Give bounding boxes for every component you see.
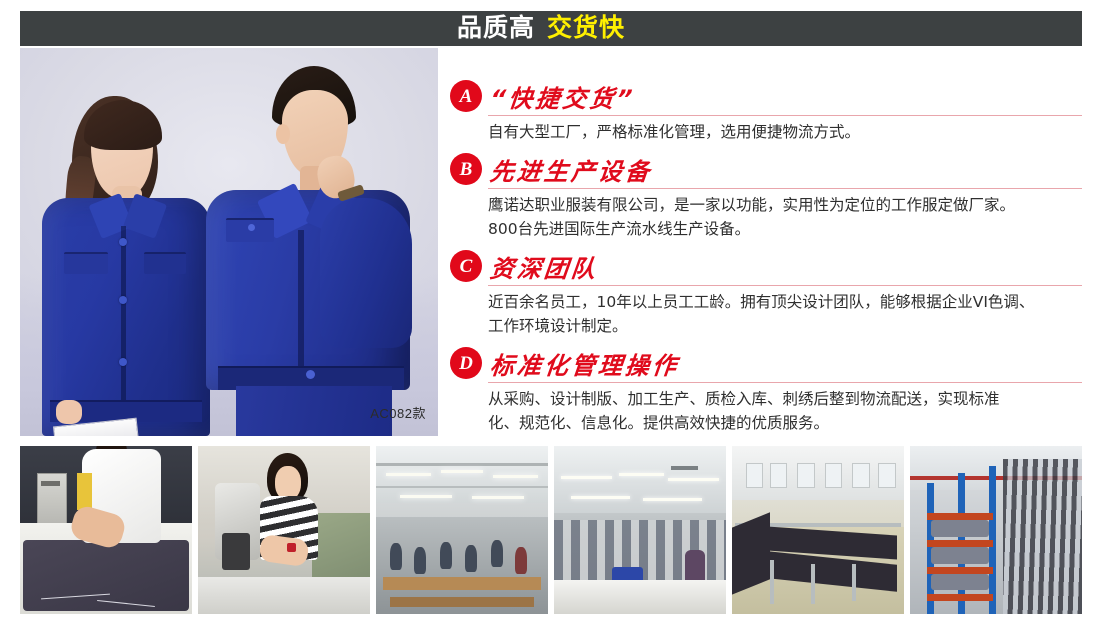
feature-body-line: 从采购、设计制版、加工生产、质检入库、刺绣后整到物流配送，实现标准	[488, 387, 1082, 411]
female-pocket-left	[64, 252, 108, 274]
feature-body: 从采购、设计制版、加工生产、质检入库、刺绣后整到物流配送，实现标准 化、规范化、…	[488, 387, 1082, 435]
feature-body: 鹰诺达职业服装有限公司，是一家以功能，实用性为定位的工作服定做厂家。 800台先…	[488, 193, 1082, 241]
feature-body-line: 800台先进国际生产流水线生产设备。	[488, 217, 1082, 241]
feature-divider	[488, 115, 1082, 116]
male-pocket-button	[248, 224, 255, 231]
feature-title: 标准化管理操作	[489, 354, 681, 379]
gallery-thumb-workshop: 生产车间全景	[376, 446, 548, 614]
factory-photo-strip: 裁剪打版车间 缝纫车工操作 生产车间全景	[20, 446, 1082, 614]
title-quality: 品质高	[457, 16, 535, 41]
feature-body: 自有大型工厂，严格标准化管理，选用便捷物流方式。	[488, 120, 1082, 144]
feature-divider	[488, 285, 1082, 286]
gallery-thumb-conveyor: 流水线输送带	[732, 446, 904, 614]
female-pocket-right	[144, 252, 186, 274]
feature-body-line: 自有大型工厂，严格标准化管理，选用便捷物流方式。	[488, 120, 1082, 144]
feature-body-line: 鹰诺达职业服装有限公司，是一家以功能，实用性为定位的工作服定做厂家。	[488, 193, 1082, 217]
hero-row: AC082款 A “快捷交货” 自有大型工厂，严格标准化管理，选用便捷物流方式。…	[20, 48, 1082, 436]
feature-item-c: C 资深团队 近百余名员工，10年以上员工工龄。拥有顶尖设计团队，能够根据企业V…	[448, 250, 1082, 338]
badge-c-icon: C	[450, 250, 482, 282]
product-code-label: AC082款	[370, 403, 426, 422]
feature-item-d: D 标准化管理操作 从采购、设计制版、加工生产、质检入库、刺绣后整到物流配送，实…	[448, 347, 1082, 435]
gallery-thumb-cutting: 裁剪打版车间	[20, 446, 192, 614]
gallery-thumb-sewing-operator: 缝纫车工操作	[198, 446, 370, 614]
gallery-thumb-warehouse: 成品仓储货架	[910, 446, 1082, 614]
female-button-2	[119, 296, 127, 304]
male-ear	[276, 124, 290, 144]
page-title: 品质高 交货快	[457, 16, 625, 41]
male-raised-arm	[320, 198, 412, 348]
male-trousers	[236, 386, 392, 436]
feature-head: D 标准化管理操作	[448, 347, 1082, 379]
product-photo: AC082款	[20, 48, 438, 436]
header-bar: 品质高 交货快	[20, 11, 1082, 46]
feature-title: “快捷交货”	[489, 87, 637, 112]
product-feature-page: 品质高 交货快	[0, 0, 1100, 619]
feature-head: B 先进生产设备	[448, 153, 1082, 185]
feature-body-line: 工作环境设计制定。	[488, 314, 1082, 338]
male-hem-button	[306, 370, 315, 379]
feature-title: 先进生产设备	[489, 160, 654, 185]
feature-body-line: 化、规范化、信息化。提供高效快捷的优质服务。	[488, 411, 1082, 435]
gallery-thumb-sewing-hall: 大型缝制车间	[554, 446, 726, 614]
feature-item-b: B 先进生产设备 鹰诺达职业服装有限公司，是一家以功能，实用性为定位的工作服定做…	[448, 153, 1082, 241]
feature-divider	[488, 382, 1082, 383]
feature-head: C 资深团队	[448, 250, 1082, 282]
title-delivery: 交货快	[547, 16, 625, 41]
badge-b-icon: B	[450, 153, 482, 185]
feature-body: 近百余名员工，10年以上员工工龄。拥有顶尖设计团队，能够根据企业VI色调、 工作…	[488, 290, 1082, 338]
badge-d-icon: D	[450, 347, 482, 379]
feature-divider	[488, 188, 1082, 189]
female-hand	[56, 400, 82, 424]
feature-head: A “快捷交货”	[448, 80, 1082, 112]
feature-item-a: A “快捷交货” 自有大型工厂，严格标准化管理，选用便捷物流方式。	[448, 80, 1082, 144]
female-button-1	[119, 238, 127, 246]
feature-list: A “快捷交货” 自有大型工厂，严格标准化管理，选用便捷物流方式。 B 先进生产…	[448, 80, 1082, 444]
female-button-3	[119, 358, 127, 366]
badge-a-icon: A	[450, 80, 482, 112]
feature-body-line: 近百余名员工，10年以上员工工龄。拥有顶尖设计团队，能够根据企业VI色调、	[488, 290, 1082, 314]
feature-title: 资深团队	[489, 257, 600, 282]
